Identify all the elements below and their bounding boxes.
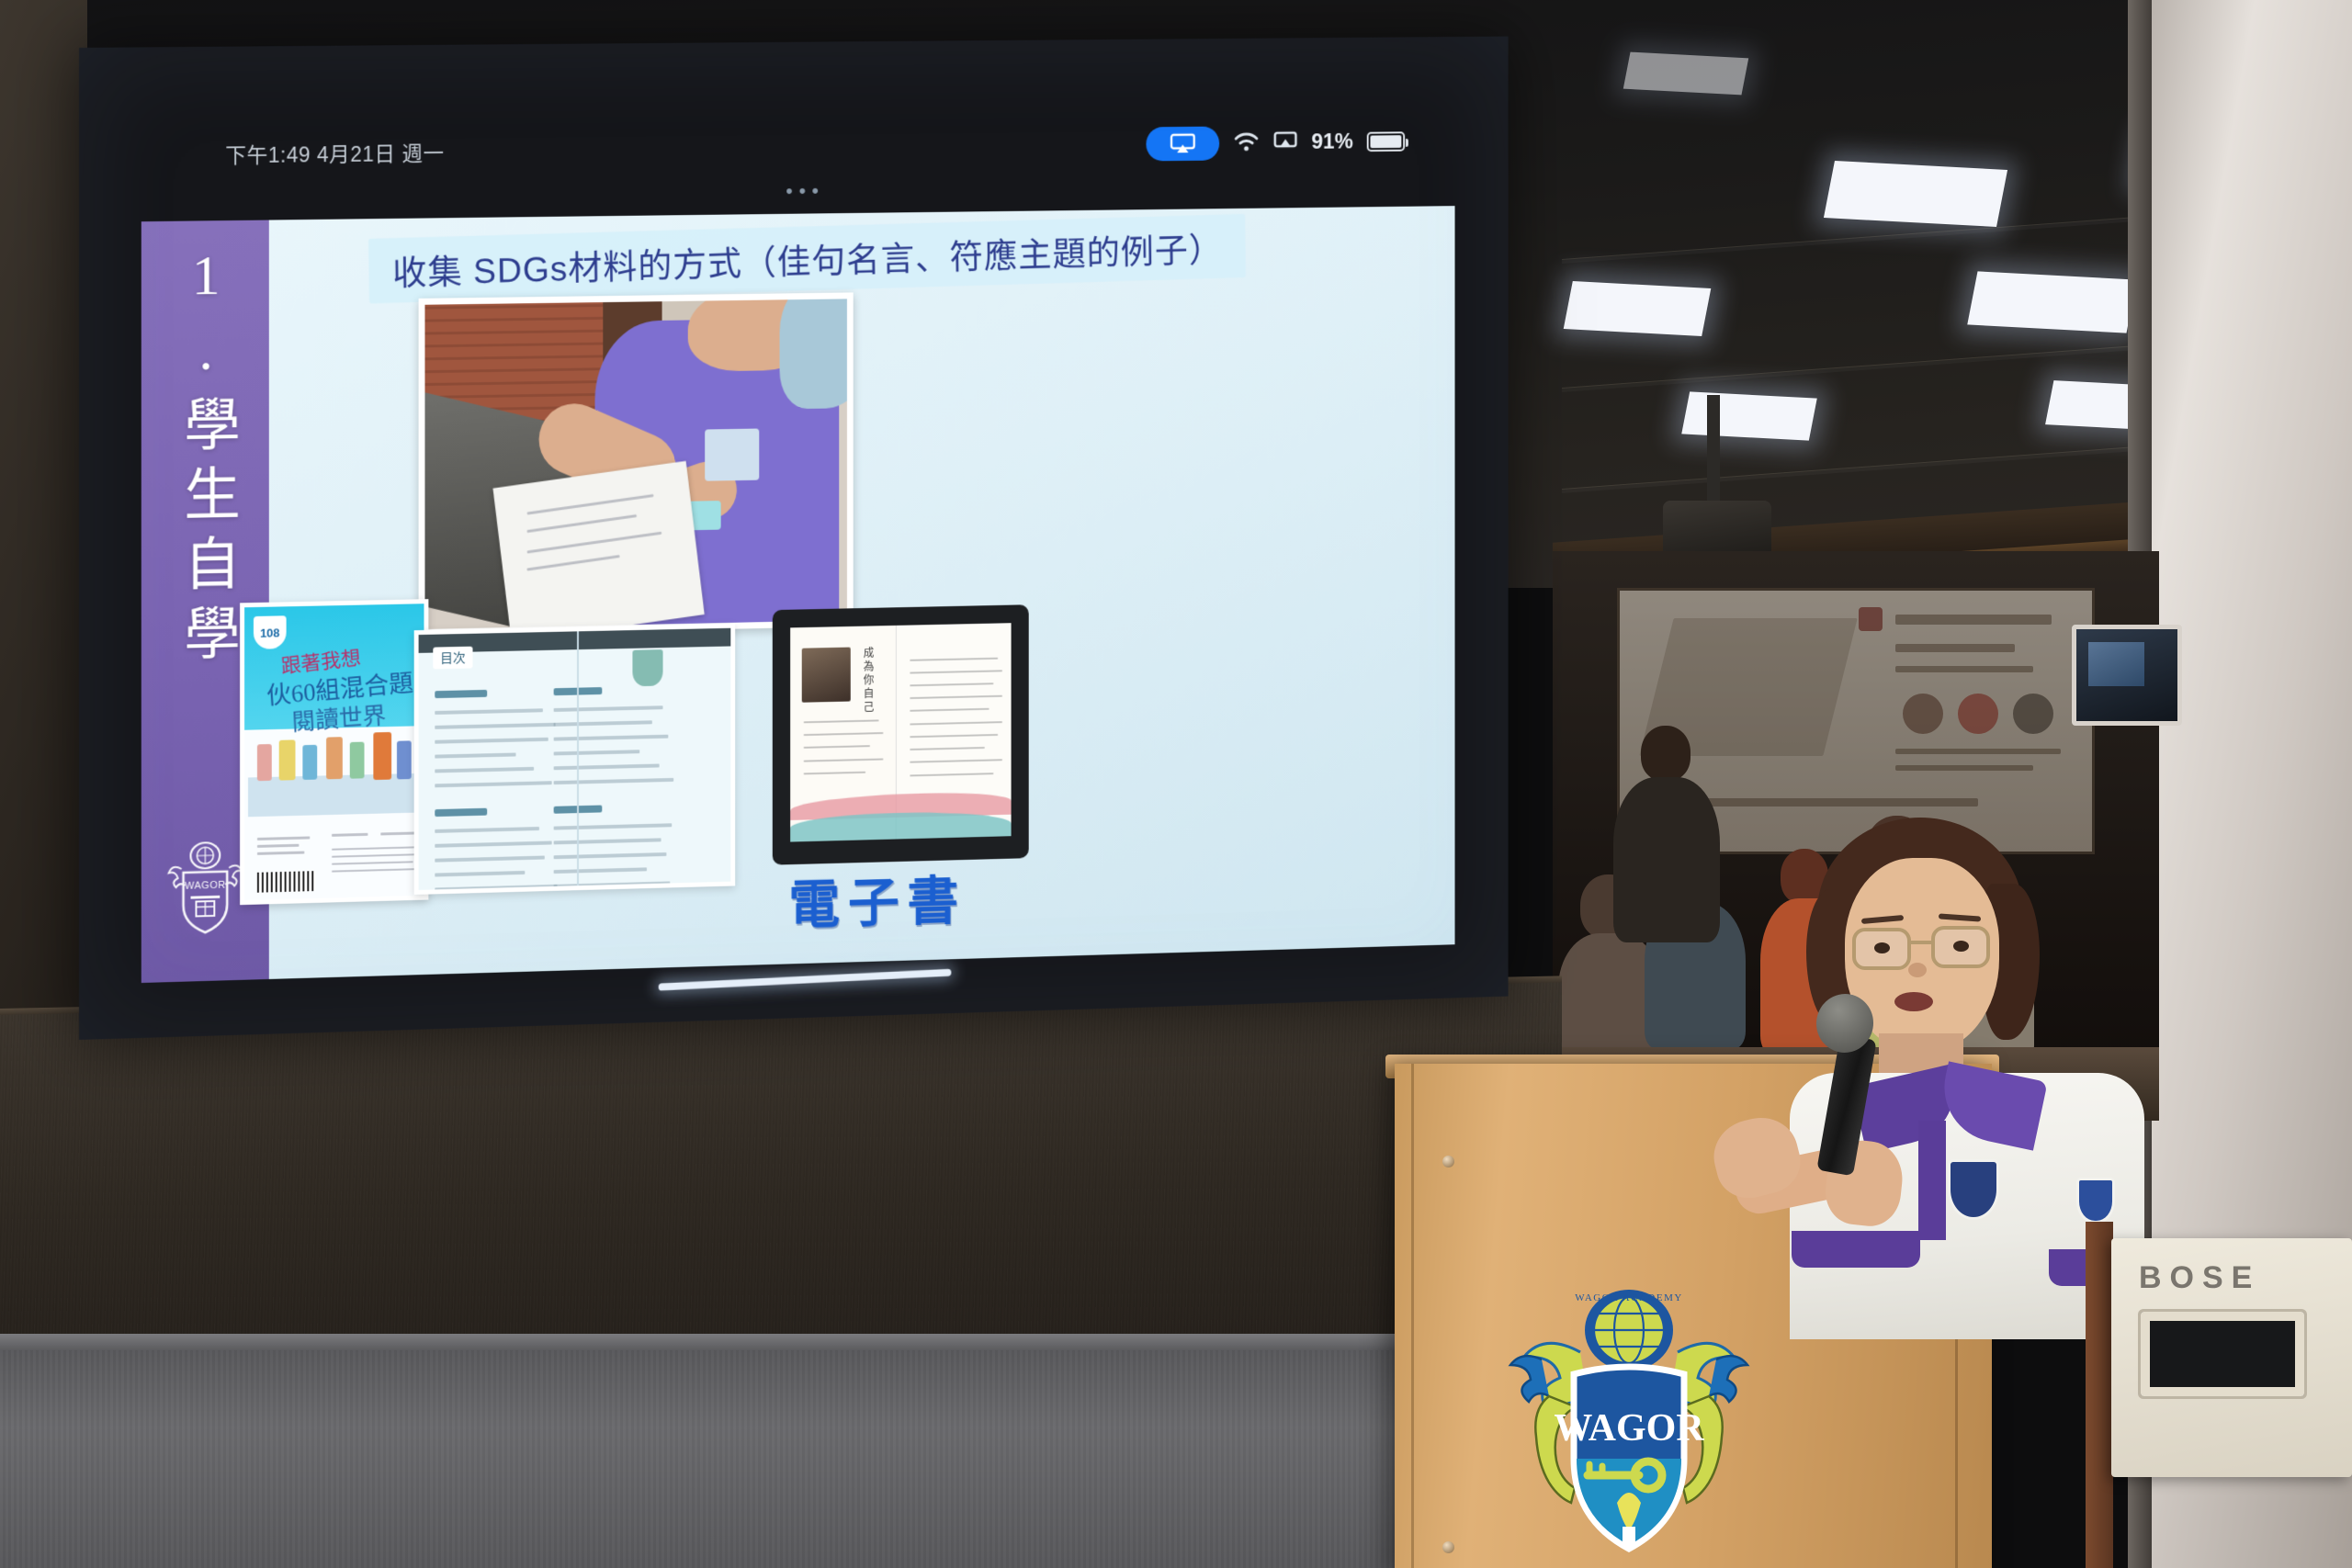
speaker-port [2141,1312,2304,1396]
battery-icon [1367,131,1405,152]
svg-text:WAGOR ACADEMY: WAGOR ACADEMY [1575,1292,1683,1303]
tablet-ebook-photo: 成為你自己 [773,604,1029,864]
ceiling-light-panel [1967,271,2136,333]
screen-mirroring-icon [1273,130,1297,155]
shirt-crest-badge [1948,1159,1999,1220]
glasses-bridge [1911,941,1931,944]
wagor-school-crest: WAGOR [164,840,247,942]
projection-screen: 下午1:49 4月21日 週一 [79,37,1509,1040]
status-right-cluster: 91% [1146,125,1405,162]
ceiling-light-panel [1623,52,1748,96]
status-clock: 下午1:49 4月21日 週一 [225,136,444,169]
ceiling-light-panel [1564,281,1712,336]
slide-title: 收集 SDGs材料的方式（佳句名言、符應主題的例子） [368,214,1246,303]
carpet-floor [0,1350,1488,1568]
multitask-handle-icon[interactable]: ••• [786,179,825,203]
audience-person [1641,726,1690,781]
toc-heading: 目次 [433,647,472,670]
left-wall [0,0,87,1084]
ebook-page-title: 成為你自己 [861,647,876,715]
bose-speaker: BOSE [2111,1238,2352,1477]
ceiling-light-panel [1824,161,2007,227]
sleeve-badge [2076,1178,2115,1224]
battery-percent: 91% [1311,130,1352,155]
ebook-label: 電子書 [788,858,967,939]
wall-mounted-monitor [2072,625,2182,726]
book-barcode [257,871,315,893]
projector-mount [1707,395,1720,514]
home-indicator[interactable] [659,969,952,991]
airplay-icon[interactable] [1146,127,1219,162]
book-title-line3: 閱讀世界 [291,697,387,738]
presentation-slide: 1.學生自學 WAGOR [141,206,1455,983]
ceiling-light-panel [1681,391,1817,440]
presentation-room-scene: 下午1:49 4月21日 週一 [0,0,2352,1568]
ipad-status-bar: 下午1:49 4月21日 週一 [79,115,1509,182]
wifi-icon [1233,130,1259,157]
projector-body [1663,501,1771,558]
podium-wagor-crest: WAGOR ACADEMY WAGOR [1477,1286,1781,1568]
slide-sidebar-label: 1.學生自學 [171,244,240,674]
bose-brand-label: BOSE [2139,1260,2260,1296]
audience-person [1613,777,1720,942]
svg-text:WAGOR: WAGOR [185,880,226,892]
table-of-contents-photo: 目次 [414,624,735,895]
book-cover-photo: 108 跟著我想 伙60組混合題 閱讀世界 [240,599,428,905]
podium-crest-text: WAGOR [1554,1407,1704,1450]
wall-edge [2086,1222,2113,1568]
student-reading-photo [419,292,854,636]
